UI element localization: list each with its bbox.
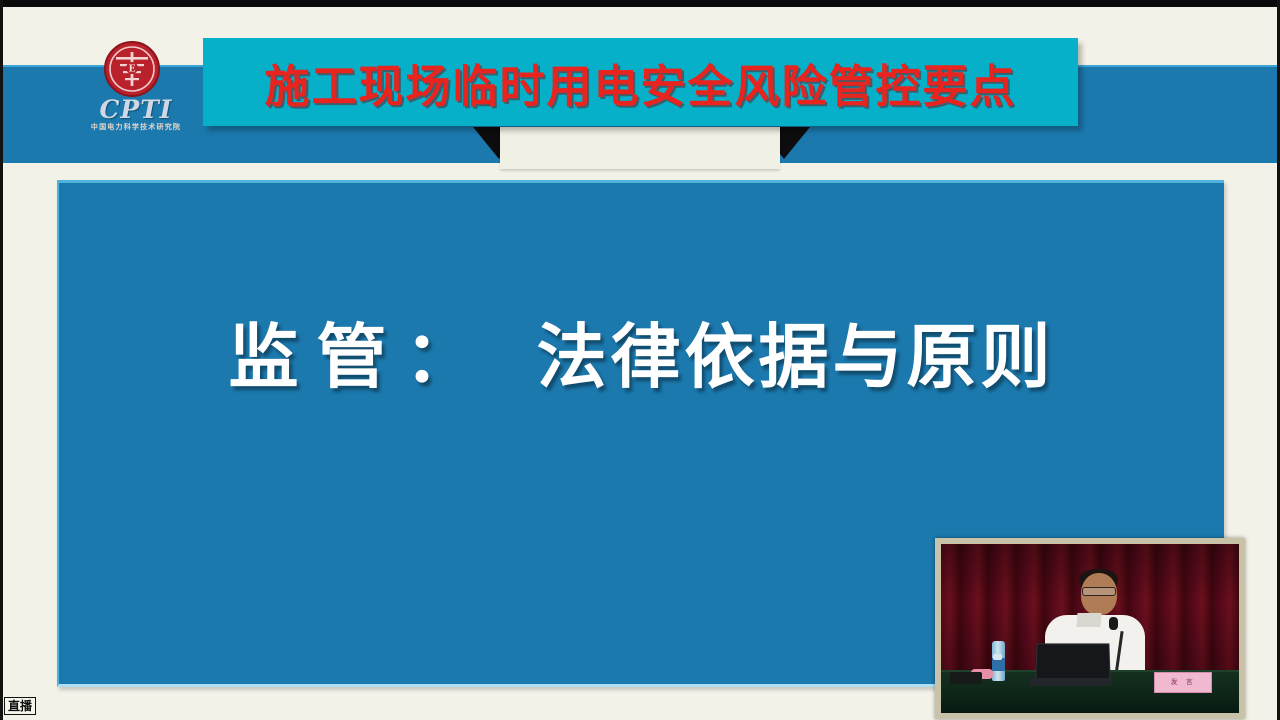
live-status-badge: 直播 [4,697,36,715]
slide-section-heading: 监管：法律依据与原则 [59,301,1224,402]
svg-text:E: E [129,65,136,75]
section-heading-tail: 法律依据与原则 [537,316,1055,398]
logo-wordmark: CPTI 中国电力科学技术研究院 [81,97,191,131]
slide-title-text: 施工现场临时用电安全风险管控要点 [264,50,1016,115]
speaker-glasses-icon [1082,587,1116,596]
logo-subtitle: 中国电力科学技术研究院 [81,123,191,131]
laptop-base [1030,678,1112,686]
presenter-video-frame: 发 言 [941,544,1239,713]
slide-title-plaque: 施工现场临时用电安全风险管控要点 [203,38,1078,126]
section-heading-lead: 监管： [229,316,493,398]
speaker-collar [1076,613,1101,627]
screen-capture: E CPTI 中国电力科学技术研究院 施工现场临时用电安全风险管控要点 监管：法… [0,0,1280,720]
red-seal-icon: E [103,40,161,98]
presenter-video-overlay[interactable]: 发 言 [935,538,1245,719]
organization-logo: E CPTI 中国电力科学技术研究院 [81,40,191,140]
dark-desk-item [950,672,982,684]
letterbox-top-edge [0,0,1280,7]
speaker-name-card: 发 言 [1154,672,1212,693]
laptop-screen [1036,644,1111,680]
logo-abbreviation: CPTI [81,97,191,122]
speaker-name-card-text: 发 言 [1155,673,1211,692]
presentation-slide: E CPTI 中国电力科学技术研究院 施工现场临时用电安全风险管控要点 监管：法… [3,7,1277,720]
microphone-head-icon [1109,617,1118,630]
water-bottle-cap [993,654,1002,660]
header-ribbon-notch [500,127,780,169]
